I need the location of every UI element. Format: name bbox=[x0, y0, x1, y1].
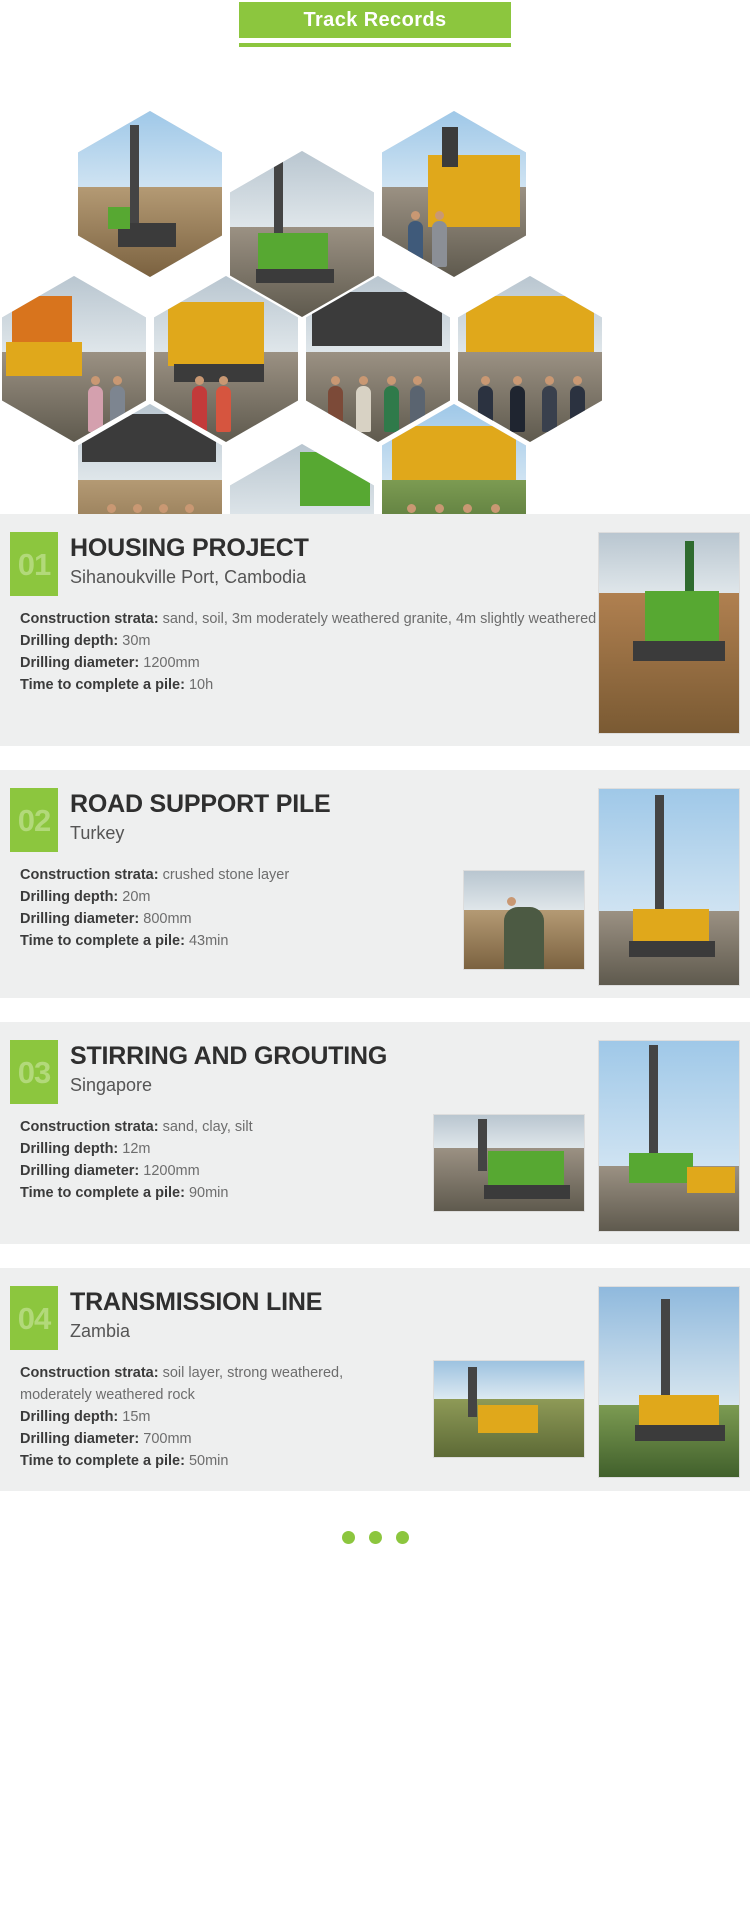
spec-time-to-complete: Time to complete a pile: 50min bbox=[20, 1450, 350, 1472]
photo-rig-bush bbox=[599, 1287, 739, 1477]
spec-label: Construction strata: bbox=[20, 867, 159, 883]
spec-value: sand, clay, silt bbox=[163, 1119, 253, 1135]
spec-label: Construction strata: bbox=[20, 611, 159, 627]
spec-value: 10h bbox=[189, 677, 213, 693]
title-underline bbox=[239, 43, 511, 47]
record-photo[interactable] bbox=[463, 870, 585, 970]
spec-value: sand, soil, 3m moderately weathered gran… bbox=[163, 611, 645, 627]
spec-label: Construction strata: bbox=[20, 1119, 159, 1135]
spec-value: crushed stone layer bbox=[163, 867, 290, 883]
title-block: Track Records bbox=[239, 2, 511, 47]
record-number-badge: 04 bbox=[10, 1286, 58, 1350]
spec-label: Time to complete a pile: bbox=[20, 1185, 185, 1201]
carousel-dot[interactable] bbox=[342, 1531, 355, 1544]
record-number-badge: 01 bbox=[10, 532, 58, 596]
spec-value: 12m bbox=[122, 1141, 150, 1157]
gallery-photo[interactable] bbox=[458, 276, 602, 442]
record-card[interactable]: 04 TRANSMISSION LINE Zambia Construction… bbox=[0, 1268, 750, 1491]
spec-label: Drilling depth: bbox=[20, 633, 118, 649]
spec-value: 800mm bbox=[143, 911, 191, 927]
record-photo[interactable] bbox=[433, 1360, 585, 1458]
spec-label: Drilling depth: bbox=[20, 889, 118, 905]
record-photo[interactable] bbox=[598, 1286, 740, 1478]
spec-value: 20m bbox=[122, 889, 150, 905]
gallery-photo[interactable] bbox=[78, 111, 222, 277]
record-specs: Construction strata: soil layer, strong … bbox=[20, 1362, 350, 1472]
record-photo[interactable] bbox=[433, 1114, 585, 1212]
record-number-badge: 03 bbox=[10, 1040, 58, 1104]
carousel-dot[interactable] bbox=[369, 1531, 382, 1544]
spec-drilling-diameter: Drilling diameter: 700mm bbox=[20, 1428, 350, 1450]
carousel-dots[interactable] bbox=[0, 1515, 750, 1570]
spec-construction-strata: Construction strata: soil layer, strong … bbox=[20, 1362, 350, 1406]
spec-label: Time to complete a pile: bbox=[20, 933, 185, 949]
photo-rig-green-gravel bbox=[434, 1115, 584, 1211]
spec-label: Drilling diameter: bbox=[20, 911, 139, 927]
spec-value: 50min bbox=[189, 1453, 229, 1469]
spec-label: Drilling diameter: bbox=[20, 1163, 139, 1179]
track-records-page: Track Records bbox=[0, 0, 750, 1570]
page-title: Track Records bbox=[303, 10, 446, 30]
record-photo[interactable] bbox=[598, 532, 740, 734]
spec-label: Drilling depth: bbox=[20, 1409, 118, 1425]
hexagon-photo-gallery bbox=[0, 59, 750, 514]
gallery-photo[interactable] bbox=[2, 276, 146, 442]
spec-value: 15m bbox=[122, 1409, 150, 1425]
spec-value: 1200mm bbox=[143, 1163, 199, 1179]
photo-rig-green-soil bbox=[599, 533, 739, 733]
record-card[interactable]: 03 STIRRING AND GROUTING Singapore Const… bbox=[0, 1022, 750, 1244]
photo-rig-tall-city bbox=[599, 1041, 739, 1231]
photo-portrait-thumbsup bbox=[464, 871, 584, 969]
photo-crew-orange bbox=[2, 276, 146, 442]
record-photo[interactable] bbox=[598, 788, 740, 986]
spec-label: Time to complete a pile: bbox=[20, 1453, 185, 1469]
record-card[interactable]: 01 HOUSING PROJECT Sihanoukville Port, C… bbox=[0, 514, 750, 746]
spec-value: 43min bbox=[189, 933, 229, 949]
spec-value: 90min bbox=[189, 1185, 229, 1201]
carousel-dot[interactable] bbox=[396, 1531, 409, 1544]
section-header: Track Records bbox=[0, 0, 750, 47]
spec-value: 1200mm bbox=[143, 655, 199, 671]
spec-value: 700mm bbox=[143, 1431, 191, 1447]
spec-label: Drilling depth: bbox=[20, 1141, 118, 1157]
spec-drilling-depth: Drilling depth: 15m bbox=[20, 1406, 350, 1428]
spec-value: 30m bbox=[122, 633, 150, 649]
title-bar: Track Records bbox=[239, 2, 511, 38]
record-number: 04 bbox=[18, 1303, 50, 1334]
photo-crew-yellow bbox=[382, 111, 526, 277]
spec-label: Construction strata: bbox=[20, 1365, 159, 1381]
record-number: 03 bbox=[18, 1057, 50, 1088]
spec-label: Drilling diameter: bbox=[20, 1431, 139, 1447]
record-number: 01 bbox=[18, 549, 50, 580]
photo-crew-excavator bbox=[458, 276, 602, 442]
photo-rig-urban bbox=[78, 111, 222, 277]
record-photo[interactable] bbox=[598, 1040, 740, 1232]
gallery-photo[interactable] bbox=[382, 111, 526, 277]
record-card[interactable]: 02 ROAD SUPPORT PILE Turkey Construction… bbox=[0, 770, 750, 998]
record-number-badge: 02 bbox=[10, 788, 58, 852]
spec-label: Drilling diameter: bbox=[20, 655, 139, 671]
spec-label: Time to complete a pile: bbox=[20, 677, 185, 693]
record-number: 02 bbox=[18, 805, 50, 836]
photo-rig-scrub bbox=[434, 1361, 584, 1457]
photo-rig-mast-sky bbox=[599, 789, 739, 985]
